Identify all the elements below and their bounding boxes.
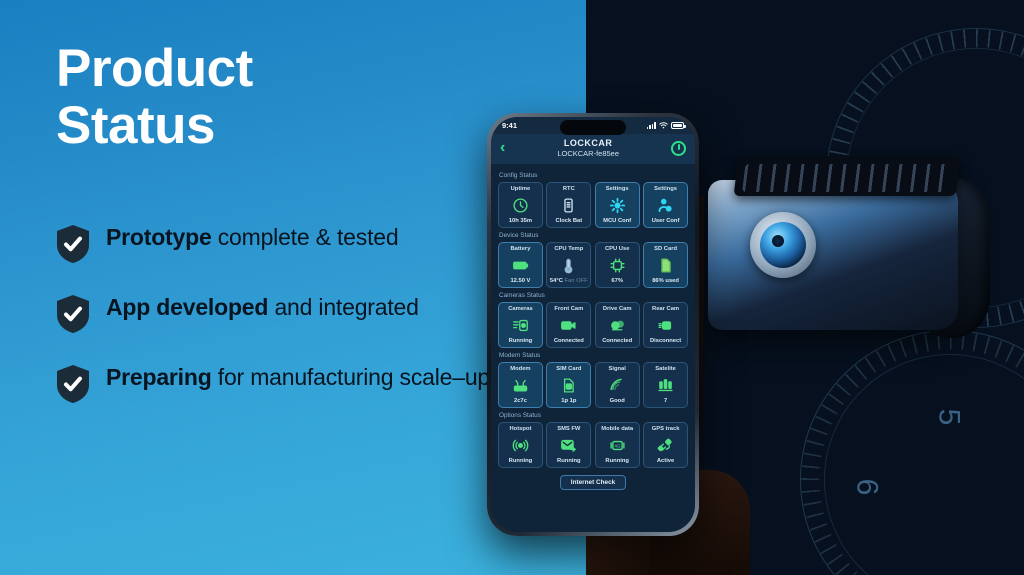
section-label: Options Status <box>499 412 688 419</box>
sim-card-icon <box>560 376 577 394</box>
phone-screen: 9:41 ‹ LOCKCAR LOCKCAR-fe85ee <box>491 117 695 532</box>
tile-label: SD Card <box>654 246 677 252</box>
phone-device: 9:41 ‹ LOCKCAR LOCKCAR-fe85ee <box>487 113 699 536</box>
tile-label: GPS track <box>652 426 680 432</box>
sms-forward-icon <box>560 436 577 454</box>
list-item-text: Prototype complete & tested <box>106 222 398 254</box>
status-tile[interactable]: Mobile data4GRunning <box>595 422 640 468</box>
section-label: Modem Status <box>499 352 688 359</box>
user-gear-icon <box>657 196 674 214</box>
wifi-icon <box>659 122 668 129</box>
hotspot-icon <box>512 436 529 454</box>
chip-icon <box>609 256 626 274</box>
shield-check-icon <box>56 364 90 404</box>
tile-label: SMS FW <box>557 426 580 432</box>
tile-label: CPU Temp <box>554 246 583 252</box>
list-item: Prototype complete & tested <box>56 222 526 264</box>
tile-label: RTC <box>563 186 575 192</box>
tile-value: User Conf <box>652 218 680 224</box>
tile-value: Running <box>605 458 629 464</box>
dashcam-lens-ring <box>750 212 816 278</box>
status-time: 9:41 <box>502 121 517 130</box>
internet-check-button[interactable]: Internet Check <box>560 475 626 490</box>
page-title: Product Status <box>56 40 253 154</box>
gear-icon <box>609 196 626 214</box>
router-icon <box>512 376 529 394</box>
tile-value: Active <box>657 458 674 464</box>
sd-card-icon <box>657 256 674 274</box>
battery-full-icon <box>671 122 684 129</box>
tile-value: 1p 1p <box>561 398 576 404</box>
tile-row: Modem2c7cSIM Card1p 1pSignalGoodSatelite… <box>498 362 688 408</box>
dashcam-body <box>708 180 958 330</box>
tile-label: CPU Use <box>605 246 629 252</box>
shield-check-icon <box>56 294 90 334</box>
tile-value: 86% used <box>652 278 679 284</box>
tile-label: Mobile data <box>601 426 633 432</box>
phone-notch <box>560 120 626 135</box>
status-tile[interactable]: Modem2c7c <box>498 362 543 408</box>
tile-label: Satelite <box>655 366 676 372</box>
tile-value: Clock Bat <box>555 218 582 224</box>
app-title-block: LOCKCAR LOCKCAR-fe85ee <box>505 138 671 158</box>
status-tile[interactable]: SettingsUser Conf <box>643 182 688 228</box>
list-item-bold: Preparing <box>106 364 212 390</box>
tile-label: Signal <box>608 366 625 372</box>
tile-value: 10h 35m <box>509 218 532 224</box>
status-tile[interactable]: Rear CamDisconnect <box>643 302 688 348</box>
status-tile[interactable]: SMS FWRunning <box>546 422 591 468</box>
tile-row: HotspotRunningSMS FWRunningMobile data4G… <box>498 422 688 468</box>
tile-row: Battery12.50 VCPU Temp54°C Fan OFFCPU Us… <box>498 242 688 288</box>
list-item: App developed and integrated <box>56 292 526 334</box>
svg-text:4G: 4G <box>614 443 621 448</box>
video-camera-icon <box>560 316 577 334</box>
gps-satellite-icon <box>657 436 674 454</box>
tile-value: Connected <box>554 338 584 344</box>
status-tile[interactable]: Uptime10h 35m <box>498 182 543 228</box>
tile-label: SIM Card <box>556 366 581 372</box>
clock-icon <box>512 196 529 214</box>
tile-value: Running <box>557 458 581 464</box>
status-tile[interactable]: SD Card86% used <box>643 242 688 288</box>
shield-check-icon <box>56 224 90 264</box>
tile-value: 2c7c <box>514 398 527 404</box>
tile-value: Connected <box>602 338 632 344</box>
thermometer-icon <box>560 256 577 274</box>
section-label: Cameras Status <box>499 292 688 299</box>
tile-label: Front Cam <box>554 306 583 312</box>
list-item-text: App developed and integrated <box>106 292 419 324</box>
section-label: Device Status <box>499 232 688 239</box>
tile-value: Good <box>610 398 625 404</box>
dashcam-lens <box>760 222 806 268</box>
battery-icon <box>512 256 529 274</box>
tile-label: Uptime <box>511 186 531 192</box>
tile-label: Settings <box>606 186 629 192</box>
decor-dial-number: 6 <box>849 479 883 496</box>
tile-value: 7 <box>664 398 667 404</box>
status-tile[interactable]: Front CamConnected <box>546 302 591 348</box>
tile-value: 54°C Fan OFF <box>550 278 588 284</box>
satellite-bars-icon <box>657 376 674 394</box>
battery-cell-icon <box>560 196 577 214</box>
camera-drive-icon <box>609 316 626 334</box>
tile-value: 67% <box>611 278 623 284</box>
tile-label: Cameras <box>508 306 533 312</box>
status-tile[interactable]: CPU Temp54°C Fan OFF <box>546 242 591 288</box>
tile-value: Disconnect <box>650 338 681 344</box>
tile-row: Uptime10h 35mRTCClock BatSettingsMCU Con… <box>498 182 688 228</box>
list-item: Preparing for manufacturing scale–up <box>56 362 526 404</box>
tile-label: Battery <box>510 246 530 252</box>
app-body: Config StatusUptime10h 35mRTCClock BatSe… <box>491 164 695 532</box>
list-item-text: Preparing for manufacturing scale–up <box>106 362 490 394</box>
app-subtitle: LOCKCAR-fe85ee <box>505 149 671 158</box>
tile-label: Modem <box>510 366 530 372</box>
tile-label: Hotspot <box>509 426 531 432</box>
signal-4g-icon <box>609 376 626 394</box>
tile-label: Drive Cam <box>603 306 632 312</box>
power-icon[interactable] <box>671 141 686 156</box>
camera-rear-icon <box>657 316 674 334</box>
tile-value: Running <box>509 338 533 344</box>
bullet-list: Prototype complete & tested App develope… <box>56 222 526 432</box>
tile-value: Running <box>509 458 533 464</box>
list-item-rest: complete & tested <box>212 224 399 250</box>
decor-dial-number: 5 <box>931 409 965 426</box>
camera-list-icon <box>512 316 529 334</box>
status-tile[interactable]: Satelite7 <box>643 362 688 408</box>
dashcam-device <box>690 150 990 340</box>
status-tile[interactable]: Battery12.50 V <box>498 242 543 288</box>
dashcam-grille <box>734 156 961 196</box>
cellular-bars-icon <box>647 122 656 129</box>
status-tile[interactable]: CamerasRunning <box>498 302 543 348</box>
tile-label: Rear Cam <box>652 306 679 312</box>
status-tile[interactable]: SIM Card1p 1p <box>546 362 591 408</box>
app-title: LOCKCAR <box>505 138 671 148</box>
status-tile[interactable]: Drive CamConnected <box>595 302 640 348</box>
mobile-data-icon: 4G <box>609 436 626 454</box>
list-item-bold: Prototype <box>106 224 212 250</box>
list-item-rest: for manufacturing scale–up <box>212 364 490 390</box>
status-tile[interactable]: SettingsMCU Conf <box>595 182 640 228</box>
status-tile[interactable]: SignalGood <box>595 362 640 408</box>
status-indicators <box>647 122 684 129</box>
list-item-bold: App developed <box>106 294 268 320</box>
tile-row: CamerasRunningFront CamConnectedDrive Ca… <box>498 302 688 348</box>
status-tile[interactable]: GPS trackActive <box>643 422 688 468</box>
tile-value: MCU Conf <box>603 218 631 224</box>
tile-label: Settings <box>654 186 677 192</box>
status-tile[interactable]: CPU Use67% <box>595 242 640 288</box>
slide-canvas: 5 6 Product Status Prototy <box>0 0 1024 575</box>
app-header: ‹ LOCKCAR LOCKCAR-fe85ee <box>491 134 695 164</box>
status-tile[interactable]: HotspotRunning <box>498 422 543 468</box>
status-tile[interactable]: RTCClock Bat <box>546 182 591 228</box>
list-item-rest: and integrated <box>268 294 418 320</box>
section-label: Config Status <box>499 172 688 179</box>
tile-value: 12.50 V <box>510 278 530 284</box>
